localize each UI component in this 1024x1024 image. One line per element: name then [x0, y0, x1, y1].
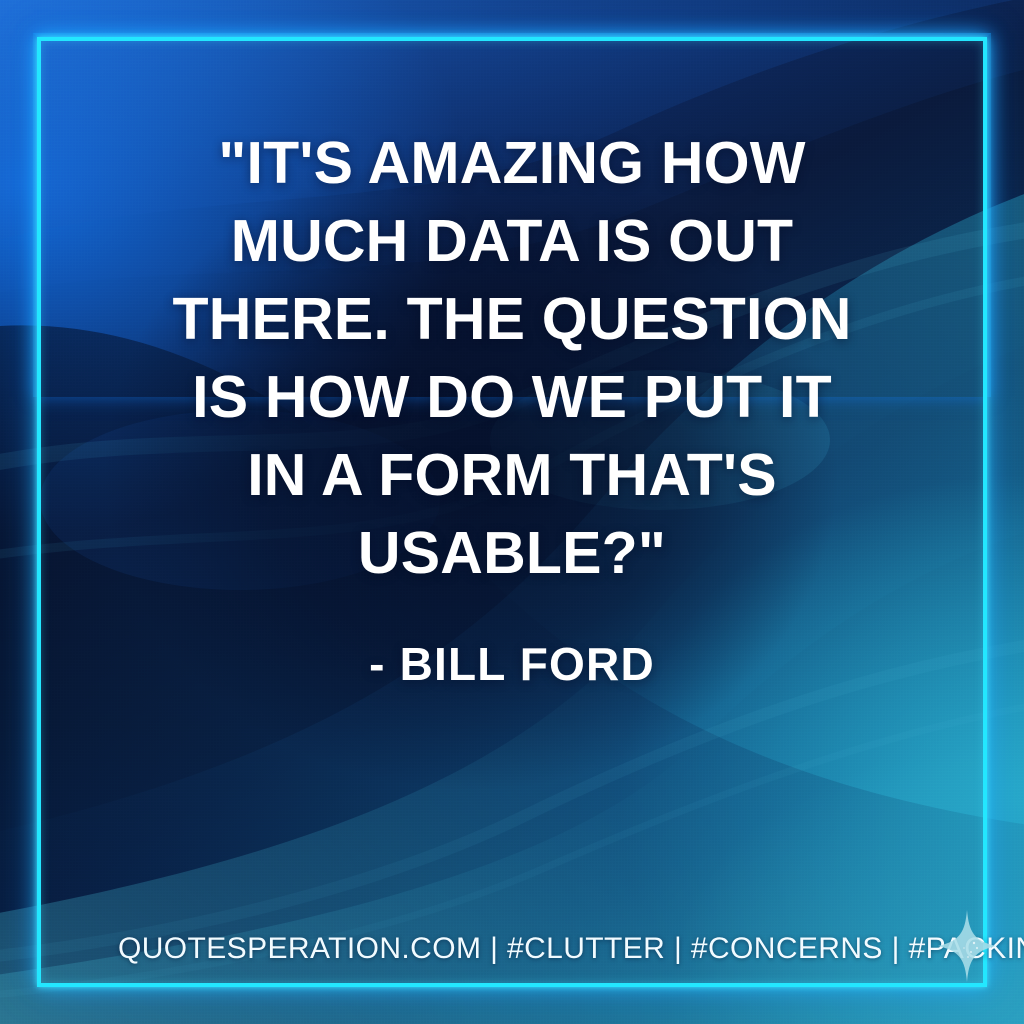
quote-text: "IT'S AMAZING HOW MUCH DATA IS OUT THERE… [142, 124, 882, 592]
footer-bar: QUOTESPERATION.COM | #CLUTTER | #CONCERN… [0, 924, 1024, 986]
card-content: "IT'S AMAZING HOW MUCH DATA IS OUT THERE… [0, 0, 1024, 1024]
quote-author: - BILL FORD [369, 638, 655, 690]
quote-card: "IT'S AMAZING HOW MUCH DATA IS OUT THERE… [0, 0, 1024, 1024]
footer-attribution-text: QUOTESPERATION.COM | #CLUTTER | #CONCERN… [118, 932, 1024, 966]
sparkle-icon [938, 910, 996, 982]
